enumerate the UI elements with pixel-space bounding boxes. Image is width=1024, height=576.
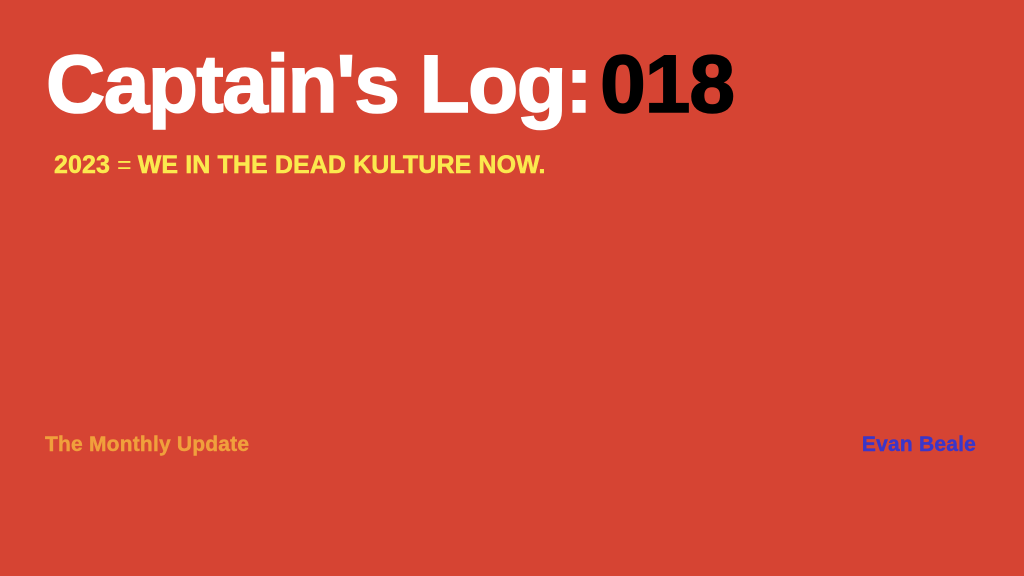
footer-author-name: Evan Beale <box>862 433 976 457</box>
subtitle-statement: WE IN THE DEAD KULTURE NOW. <box>138 153 546 178</box>
footer-series-label: The Monthly Update <box>45 433 249 457</box>
title-issue-number: 018 <box>600 44 734 126</box>
subtitle-separator: = <box>117 153 132 178</box>
slide-canvas: Captain's Log:018 2023=WE IN THE DEAD KU… <box>0 0 1024 576</box>
title-main-text: Captain's Log: <box>46 44 591 126</box>
subtitle: 2023=WE IN THE DEAD KULTURE NOW. <box>54 153 546 178</box>
subtitle-year: 2023 <box>54 153 110 178</box>
page-title: Captain's Log:018 <box>46 44 734 126</box>
